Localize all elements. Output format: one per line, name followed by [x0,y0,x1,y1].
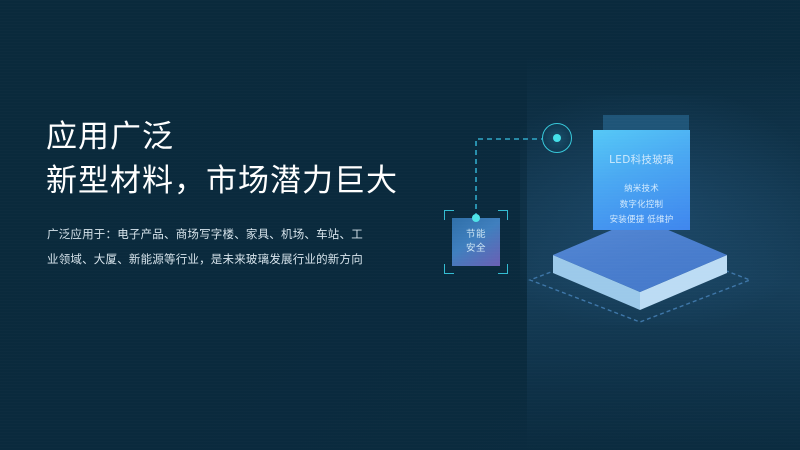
glass-panel-title: LED科技玻璃 [593,152,690,167]
glass-feature-item: 纳米技术 [593,182,690,198]
corner-bracket-bottom-right-icon [498,264,508,274]
glass-panel[interactable]: LED科技玻璃 纳米技术 数字化控制 安装便捷 低维护 [593,130,690,230]
glass-panel-features: 纳米技术 数字化控制 安装便捷 低维护 [593,182,690,229]
badge-label-line-2: 安全 [466,242,486,256]
glass-feature-item: 数字化控制 [593,198,690,214]
headline-line-2: 新型材料，市场潜力巨大 [46,159,398,203]
headline-line-1: 应用广泛 [46,119,174,155]
corner-bracket-top-right-icon [498,210,508,220]
node-center-dot-icon [553,134,561,142]
page-title: 应用广泛 新型材料，市场潜力巨大 [46,115,398,203]
feature-badge[interactable]: 节能 安全 [444,210,508,274]
corner-bracket-top-left-icon [444,210,454,220]
badge-label: 节能 安全 [452,218,500,266]
glass-feature-item: 安装便捷 低维护 [593,213,690,229]
body-paragraph: 广泛应用于：电子产品、商场写字楼、家具、机场、车站、工业领域、大厦、新能源等行业… [47,222,367,271]
badge-dot-icon [472,214,480,222]
slide-canvas: 应用广泛 新型材料，市场潜力巨大 广泛应用于：电子产品、商场写字楼、家具、机场、… [0,0,800,450]
badge-label-line-1: 节能 [466,228,486,242]
corner-bracket-bottom-left-icon [444,264,454,274]
